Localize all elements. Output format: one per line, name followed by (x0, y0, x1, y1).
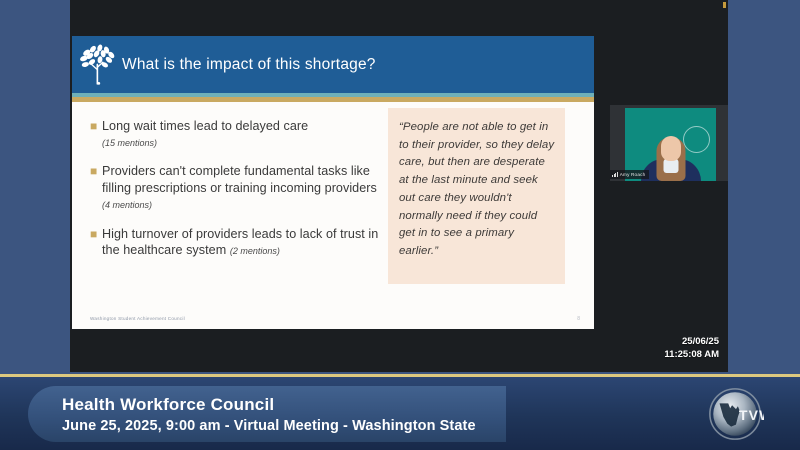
slide-body: ■ Long wait times lead to delayed care (… (72, 102, 594, 329)
bullet-list: ■ Long wait times lead to delayed care (… (90, 118, 382, 272)
bullet-text: High turnover of providers leads to lack… (102, 226, 382, 260)
lower-third-banner: Health Workforce Council June 25, 2025, … (0, 377, 800, 450)
bullet-text: Long wait times lead to delayed care (15… (102, 118, 308, 151)
tvw-logo-icon: TVW (706, 385, 764, 443)
timestamp-date: 25/06/25 (664, 335, 719, 348)
bullet-dot-icon: ■ (90, 118, 102, 151)
slide-page-number: 8 (577, 316, 580, 322)
participant-face (661, 136, 681, 161)
tree-logo-icon (78, 44, 118, 86)
bullet-dot-icon: ■ (90, 226, 102, 260)
participant-name: Amy Roach (620, 172, 646, 177)
bullet-dot-icon: ■ (90, 163, 102, 214)
screen-share-region: What is the impact of this shortage? ■ L… (70, 0, 728, 372)
bullet-mentions: (15 mentions) (102, 135, 308, 152)
bullet-text: Providers can't complete fundamental tas… (102, 163, 382, 214)
svg-text:TVW: TVW (739, 407, 764, 423)
participant-collar (663, 159, 678, 173)
bullet-main-text: Providers can't complete fundamental tas… (102, 164, 377, 195)
bullet-main-text: Long wait times lead to delayed care (102, 119, 308, 133)
bullet-item: ■ Long wait times lead to delayed care (… (90, 118, 382, 151)
participant-name-bar: Amy Roach (610, 170, 649, 179)
bullet-item: ■ Providers can't complete fundamental t… (90, 163, 382, 214)
tree-watermark-icon (683, 126, 710, 153)
quote-callout-card: “People are not able to get in to their … (388, 108, 565, 284)
timestamp-overlay: 25/06/25 11:25:08 AM (664, 335, 719, 361)
bullet-item: ■ High turnover of providers leads to la… (90, 226, 382, 260)
banner-subtitle: June 25, 2025, 9:00 am - Virtual Meeting… (62, 416, 476, 436)
share-indicator-dot (723, 2, 726, 8)
participant-video-tile[interactable]: Amy Roach (610, 105, 728, 181)
quote-text: “People are not able to get in to their … (399, 119, 555, 261)
bullet-mentions: (2 mentions) (230, 246, 280, 256)
slide-footer-attribution: Washington Student Achievement Council (90, 316, 185, 321)
banner-title: Health Workforce Council (62, 393, 476, 416)
presentation-slide: What is the impact of this shortage? ■ L… (72, 36, 594, 329)
video-player-frame: What is the impact of this shortage? ■ L… (0, 0, 800, 450)
bullet-mentions: (4 mentions) (102, 200, 152, 210)
signal-strength-icon (612, 172, 618, 177)
timestamp-time: 11:25:08 AM (664, 348, 719, 361)
slide-title: What is the impact of this shortage? (122, 56, 376, 74)
slide-header: What is the impact of this shortage? (72, 36, 594, 93)
banner-text-pill: Health Workforce Council June 25, 2025, … (28, 386, 506, 442)
